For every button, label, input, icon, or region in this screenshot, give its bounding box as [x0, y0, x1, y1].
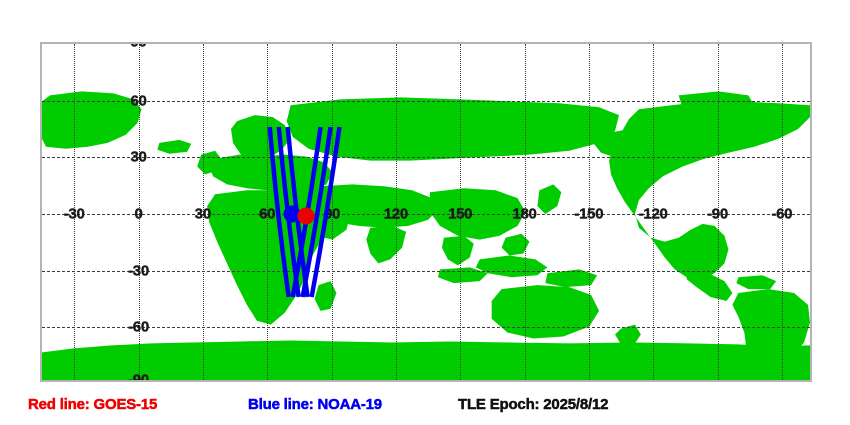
- satellite-marker-goes15[interactable]: [298, 208, 315, 225]
- legend-entry-tle-epoch: TLE Epoch: 2025/8/12: [458, 396, 608, 413]
- legend-entry-goes15: Red line: GOES-15: [28, 396, 157, 413]
- world-map-panel: -30 0 30 60 90 90 120 150 180 -150 -120 …: [40, 42, 812, 382]
- legend-entry-noaa19: Blue line: NOAA-19: [248, 396, 382, 413]
- legend-bar: Red line: GOES-15 Blue line: NOAA-19 TLE…: [0, 396, 850, 422]
- map-plot-area: -30 0 30 60 90 90 120 150 180 -150 -120 …: [42, 44, 810, 380]
- satellite-ground-tracks-layer: [42, 44, 810, 380]
